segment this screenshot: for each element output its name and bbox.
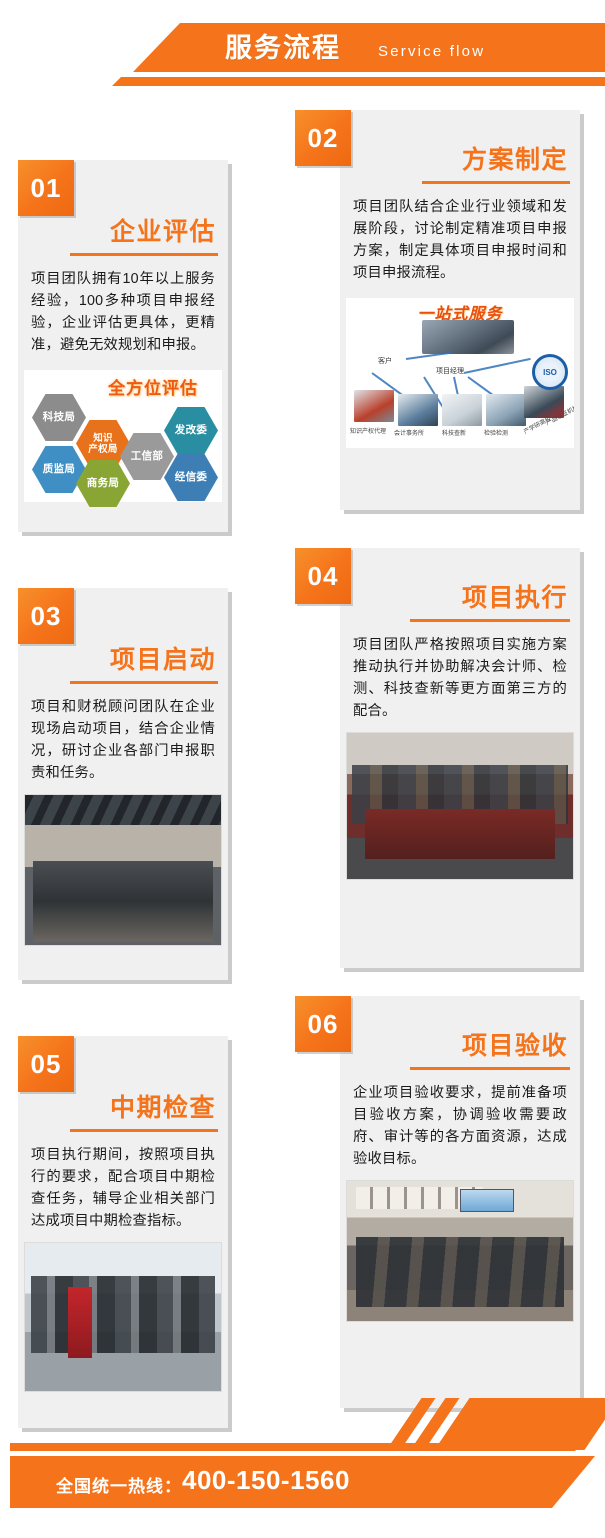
step-number: 05 xyxy=(31,1049,62,1080)
step-badge-01: 01 xyxy=(18,160,74,216)
step-card-02: 方案制定 项目团队结合企业行业领域和发展阶段，讨论制定精准项目申报方案，制定具体… xyxy=(340,110,580,510)
one-stop-node-manager: 项目经理 xyxy=(436,366,464,376)
step-body-03: 项目和财税顾问团队在企业现场启动项目，结合企业情况，研讨企业各部门申报职责和任务… xyxy=(18,684,228,794)
step-body-06: 企业项目验收要求，提前准备项目验收方案，协调验收需要政府、审计等的各方面资源，达… xyxy=(340,1070,580,1180)
page-header: 服务流程 Service flow xyxy=(0,0,605,100)
step-title-05: 中期检查 xyxy=(18,1088,228,1124)
step-badge-06: 06 xyxy=(295,996,351,1052)
one-stop-thumb-testing xyxy=(486,394,526,426)
step-badge-03: 03 xyxy=(18,588,74,644)
hex-label: 知识 产权局 xyxy=(88,433,117,455)
step-number: 02 xyxy=(308,123,339,154)
hex-label: 发改委 xyxy=(175,425,207,436)
hex-diagram: 全方位评估 科技局 知识 产权局 质监局 工信部 商务局 发改委 经信委 xyxy=(24,370,222,502)
one-stop-label-testing: 检验检测 xyxy=(484,428,508,437)
one-stop-label-ip: 知识产权代理 xyxy=(350,426,386,435)
step-title-04: 项目执行 xyxy=(340,578,580,614)
hex-node-zscq: 知识 产权局 xyxy=(76,420,130,467)
header-banner-bar xyxy=(133,23,605,72)
step-card-06: 项目验收 企业项目验收要求，提前准备项目验收方案，协调验收需要政府、审计等的各方… xyxy=(340,996,580,1408)
step-title-06: 项目验收 xyxy=(340,1026,580,1062)
photo-acceptance-meeting xyxy=(346,1180,574,1322)
photo-working-meeting xyxy=(346,732,574,880)
photo-conference-room xyxy=(24,794,222,946)
step-badge-02: 02 xyxy=(295,110,351,166)
step-card-04: 项目执行 项目团队严格按照项目实施方案推动执行并协助解决会计师、检测、科技查新等… xyxy=(340,548,580,968)
step-number: 04 xyxy=(308,561,339,592)
page-subtitle: Service flow xyxy=(378,40,485,64)
hotline-label: 全国统一热线： xyxy=(56,1472,182,1497)
seal-text: ISO xyxy=(543,368,557,377)
one-stop-label-research: 科技查新 xyxy=(442,428,466,437)
hex-diagram-title: 全方位评估 xyxy=(108,374,198,399)
step-body-01: 项目团队拥有10年以上服务经验，100多种项目申报经验，企业评估更具体，更精准，… xyxy=(18,256,228,366)
one-stop-node-customer: 客户 xyxy=(378,356,392,366)
one-stop-thumb-ip xyxy=(354,390,394,422)
step-title-02: 方案制定 xyxy=(340,140,580,176)
page-title: 服务流程 xyxy=(225,30,341,66)
header-accent-stripe xyxy=(112,77,605,86)
step-badge-05: 05 xyxy=(18,1036,74,1092)
hex-node-keji: 科技局 xyxy=(32,394,86,441)
hex-label: 科技局 xyxy=(43,412,75,423)
step-badge-04: 04 xyxy=(295,548,351,604)
one-stop-label-accounting: 会计事务所 xyxy=(394,428,424,437)
one-stop-center-photo xyxy=(422,320,514,354)
step-title-01: 企业评估 xyxy=(18,212,228,248)
one-stop-arrow xyxy=(464,358,531,374)
step-card-05: 中期检查 项目执行期间，按照项目执行的要求，配合项目中期检查任务，辅导企业相关部… xyxy=(18,1036,228,1428)
step-number: 01 xyxy=(31,173,62,204)
projector-screen xyxy=(460,1189,514,1211)
step-body-02: 项目团队结合企业行业领域和发展阶段，讨论制定精准项目申报方案，制定具体项目申报时… xyxy=(340,184,580,294)
hex-label: 经信委 xyxy=(175,472,207,483)
step-title-03: 项目启动 xyxy=(18,640,228,676)
hex-label: 工信部 xyxy=(131,451,163,462)
step-body-04: 项目团队严格按照项目实施方案推动执行并协助解决会计师、检测、科技查新等更方面第三… xyxy=(340,622,580,732)
step-number: 06 xyxy=(308,1009,339,1040)
hex-node-jingxin: 经信委 xyxy=(164,454,218,501)
step-card-03: 项目启动 项目和财税顾问团队在企业现场启动项目，结合企业情况，研讨企业各部门申报… xyxy=(18,588,228,980)
hex-label: 质监局 xyxy=(43,464,75,475)
hex-node-gongxin: 工信部 xyxy=(120,433,174,480)
one-stop-thumb-research xyxy=(442,394,482,426)
hex-node-fagai: 发改委 xyxy=(164,407,218,454)
step-body-05: 项目执行期间，按照项目执行的要求，配合项目中期检查任务，辅导企业相关部门达成项目… xyxy=(18,1132,228,1242)
one-stop-thumb-accounting xyxy=(398,394,438,426)
photo-site-visit xyxy=(24,1242,222,1392)
hex-label: 商务局 xyxy=(87,478,119,489)
hotline-number[interactable]: 400-150-1560 xyxy=(182,1465,350,1496)
step-number: 03 xyxy=(31,601,62,632)
certification-seal-icon: ISO xyxy=(532,354,568,390)
footer-accent-stripe xyxy=(10,1443,583,1451)
one-stop-diagram: 一站式服务 客户 项目经理 ISO 知识产权代理 会计事务所 科技查新 检验检测… xyxy=(346,298,574,448)
